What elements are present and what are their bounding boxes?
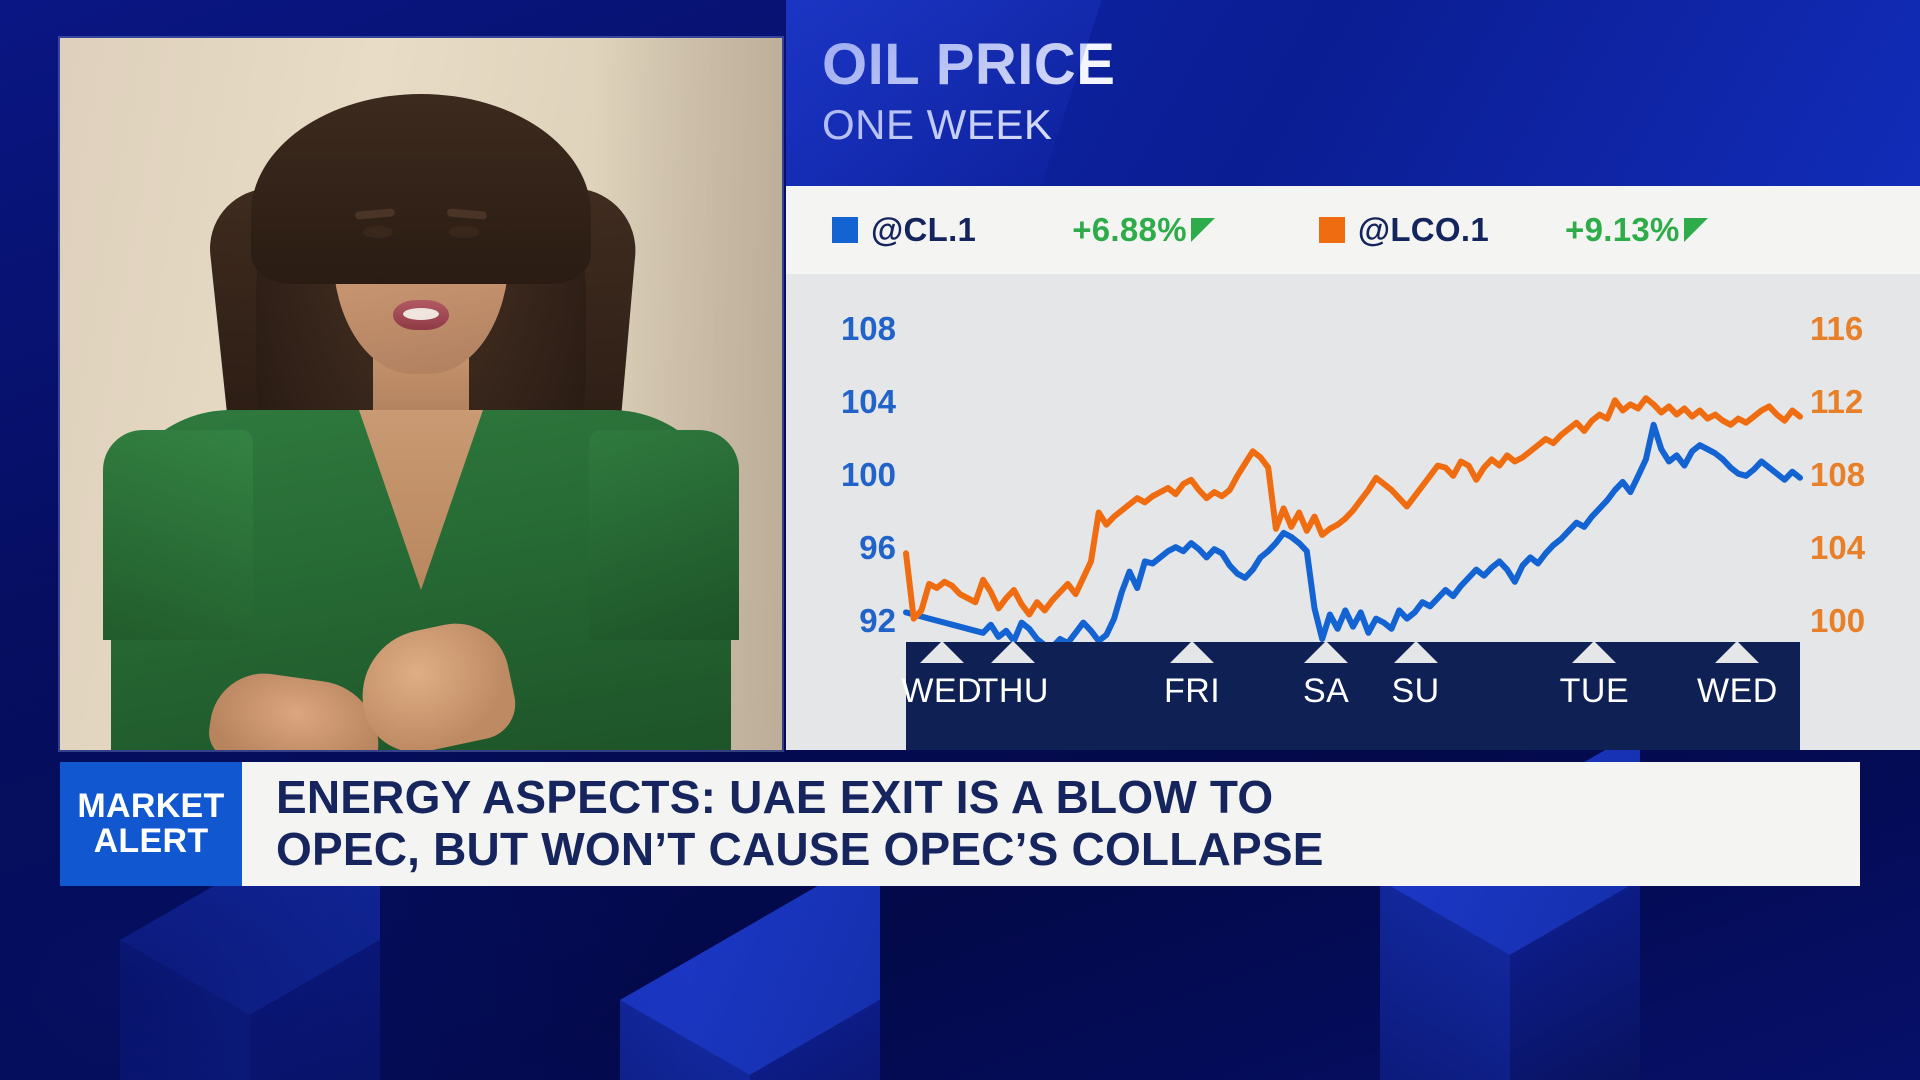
legend-swatch-blue — [832, 217, 858, 243]
x-axis-notch — [1394, 641, 1438, 663]
badge-line-1: MARKET — [77, 789, 224, 824]
legend-change-value: +9.13% — [1565, 211, 1680, 249]
legend-item-lco1[interactable]: @LCO.1 — [1319, 211, 1489, 249]
headline-line-1: ENERGY ASPECTS: UAE EXIT IS A BLOW TO — [276, 772, 1860, 824]
x-axis-notch — [1170, 641, 1214, 663]
series-line-cl1 — [906, 425, 1800, 647]
graphic-header: OIL PRICE ONE WEEK — [786, 0, 1920, 186]
lower-third-ticker: MARKET ALERT ENERGY ASPECTS: UAE EXIT IS… — [60, 762, 1860, 886]
x-axis-band: WEDTHUFRISASUTUEWED — [906, 642, 1800, 750]
x-axis-notch — [920, 641, 964, 663]
legend-item-cl1[interactable]: @CL.1 — [832, 211, 976, 249]
graphic-title: OIL PRICE — [822, 36, 1115, 94]
legend-symbol: @LCO.1 — [1358, 211, 1489, 249]
video-feed — [60, 38, 782, 750]
x-axis-notch — [1715, 641, 1759, 663]
x-axis-label: SA — [1303, 672, 1349, 711]
legend-swatch-orange — [1319, 217, 1345, 243]
oil-price-graphic: OIL PRICE ONE WEEK @CL.1 +6.88% @LCO.1 +… — [786, 0, 1920, 750]
x-axis-label: WED — [901, 672, 982, 711]
legend-change-lco1: +9.13% — [1565, 211, 1708, 249]
legend-change-value: +6.88% — [1072, 211, 1187, 249]
chart-plot-area: 1081041009692 116112108104100 WEDTHUFRIS… — [786, 274, 1920, 750]
x-axis-label: TUE — [1560, 672, 1630, 711]
x-axis-label: THU — [978, 672, 1049, 711]
legend-symbol: @CL.1 — [871, 211, 976, 249]
x-axis-notch — [1572, 641, 1616, 663]
x-axis-label: SU — [1391, 672, 1439, 711]
graphic-subtitle: ONE WEEK — [822, 104, 1052, 146]
x-axis-notch — [991, 641, 1035, 663]
down-triangle-icon — [1191, 218, 1215, 242]
legend-change-cl1: +6.88% — [1072, 211, 1215, 249]
headline-line-2: OPEC, BUT WON’T CAUSE OPEC’S COLLAPSE — [276, 824, 1860, 876]
market-alert-badge: MARKET ALERT — [60, 762, 242, 886]
down-triangle-icon — [1684, 218, 1708, 242]
x-axis-label: WED — [1697, 672, 1778, 711]
badge-line-2: ALERT — [94, 824, 209, 859]
broadcast-screen: OIL PRICE ONE WEEK @CL.1 +6.88% @LCO.1 +… — [0, 0, 1920, 1080]
x-axis-label: FRI — [1164, 672, 1220, 711]
x-axis-notch — [1304, 641, 1348, 663]
chart-legend: @CL.1 +6.88% @LCO.1 +9.13% — [786, 186, 1920, 274]
series-line-lco1 — [906, 398, 1800, 618]
headline-container: ENERGY ASPECTS: UAE EXIT IS A BLOW TO OP… — [242, 762, 1860, 886]
